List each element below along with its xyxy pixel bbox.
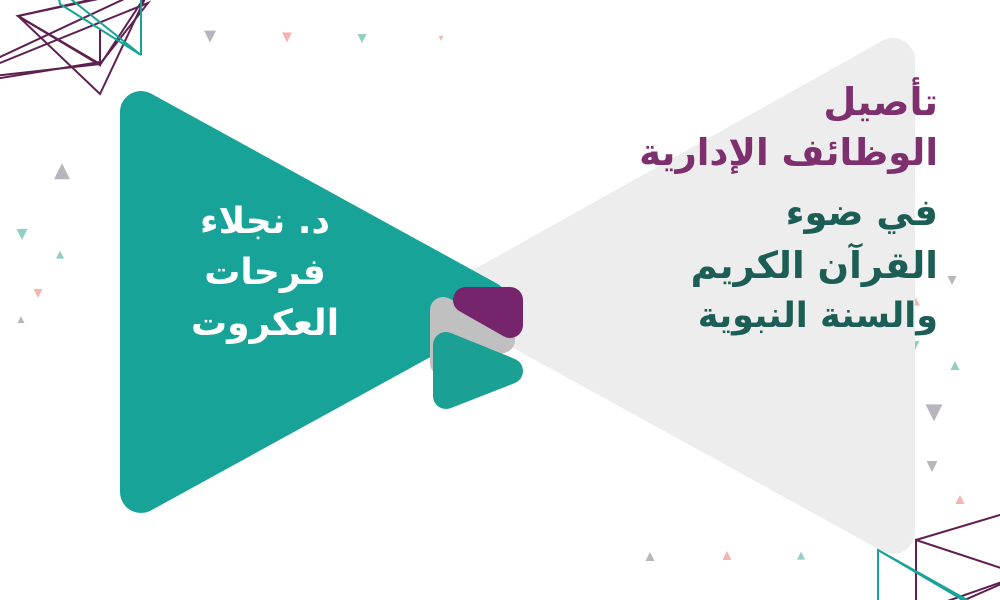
book-cover-canvas: تأصيل الوظائف الإدارية في ضوء القرآن الك… [0,0,1000,600]
three-arrow-logo [0,0,1000,600]
